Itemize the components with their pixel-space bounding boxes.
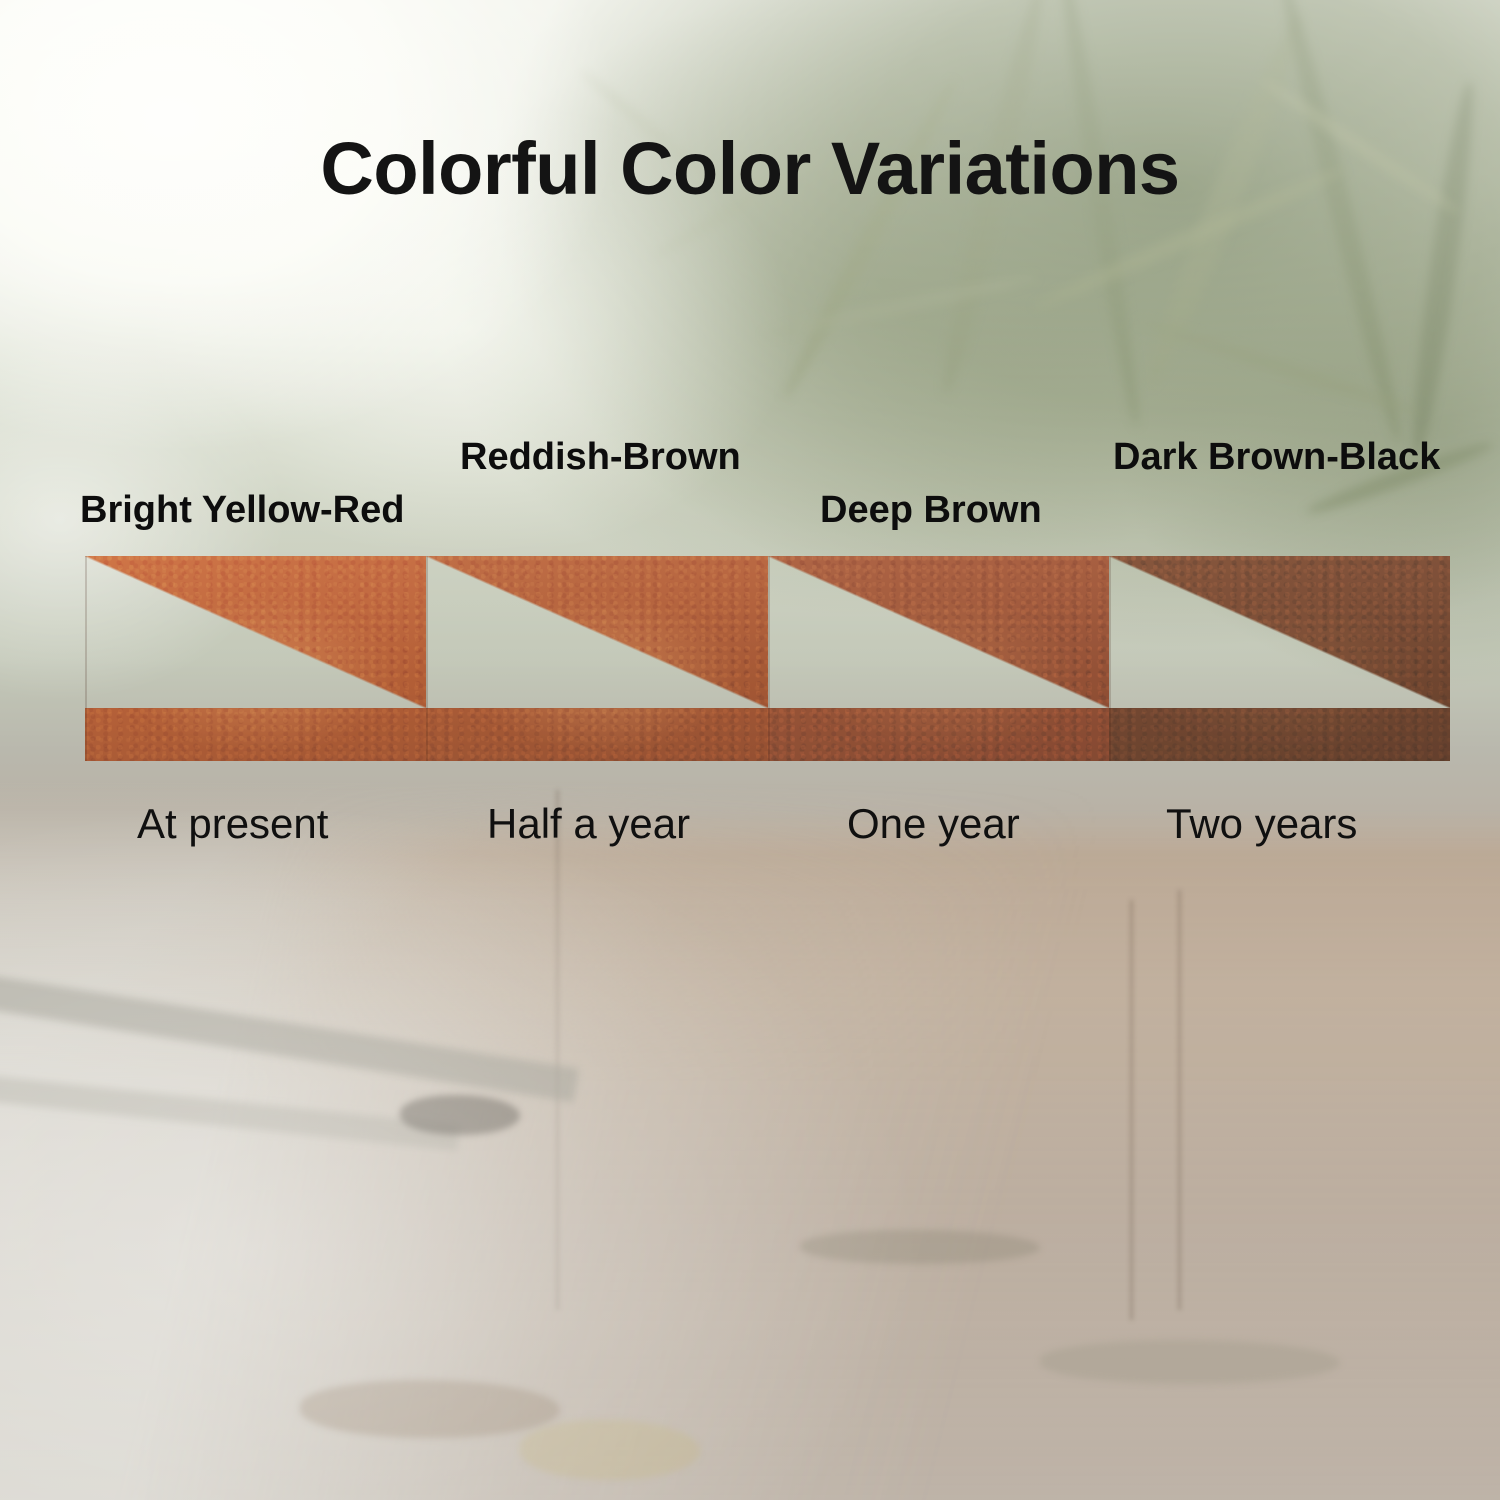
color-label-two-years: Dark Brown-Black: [1113, 436, 1440, 479]
swatch-panel-one-year: [768, 556, 1109, 761]
time-label-at-present: At present: [137, 800, 328, 848]
time-label-one-year: One year: [847, 800, 1020, 848]
color-label-half-a-year: Reddish-Brown: [460, 436, 741, 479]
page-title: Colorful Color Variations: [0, 126, 1500, 211]
swatch-panel-half-a-year: [426, 556, 767, 761]
patina-swatch-strip: [85, 556, 1450, 761]
time-label-two-years: Two years: [1166, 800, 1357, 848]
color-label-one-year: Deep Brown: [820, 489, 1042, 532]
infographic-canvas: Colorful Color Variations Bright Yellow-…: [0, 0, 1500, 1500]
swatch-panel-two-years: [1109, 556, 1450, 761]
color-label-at-present: Bright Yellow-Red: [80, 489, 404, 532]
time-label-half-a-year: Half a year: [487, 800, 690, 848]
swatch-panel-at-present: [85, 556, 426, 761]
